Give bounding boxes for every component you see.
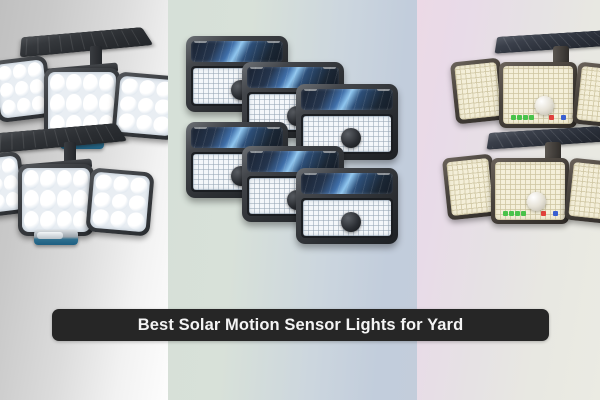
motion-sensor-icon xyxy=(34,230,78,245)
led-panel xyxy=(301,198,393,238)
led-lens xyxy=(495,162,565,220)
led-lens xyxy=(446,158,493,216)
solar-flood-light-warm xyxy=(445,122,600,240)
solar-wall-light xyxy=(296,168,398,244)
led-lens xyxy=(576,66,600,124)
light-head-center xyxy=(491,158,569,224)
solar-panel-icon xyxy=(191,41,283,62)
status-indicator-red xyxy=(549,115,554,120)
solar-panel-icon xyxy=(487,126,600,149)
battery-indicator xyxy=(503,211,526,216)
motion-sensor-icon xyxy=(535,96,554,115)
status-indicator-blue xyxy=(561,115,566,120)
status-indicator-blue xyxy=(553,211,558,216)
solar-panel-icon xyxy=(301,173,393,194)
led-lens xyxy=(90,172,151,233)
led-lens xyxy=(22,168,90,232)
solar-panel-icon xyxy=(301,89,393,110)
light-head-left xyxy=(450,58,506,125)
motion-sensor-icon xyxy=(527,192,546,211)
light-head-center xyxy=(18,164,94,236)
banner-title-text: Best Solar Motion Sensor Lights for Yard xyxy=(138,316,464,335)
light-head-center xyxy=(499,62,577,128)
motion-sensor-icon xyxy=(341,212,361,232)
title-banner: Best Solar Motion Sensor Lights for Yard xyxy=(52,309,549,341)
light-head-left xyxy=(442,154,498,221)
solar-panel-icon xyxy=(495,30,600,53)
led-lens xyxy=(568,162,600,220)
light-head-right xyxy=(564,158,600,225)
battery-indicator xyxy=(511,115,534,120)
led-lens xyxy=(0,59,49,118)
led-lens xyxy=(454,62,501,120)
solar-panel-icon xyxy=(20,27,154,57)
led-lens xyxy=(503,66,573,124)
motion-sensor-icon xyxy=(341,128,361,148)
light-head-right xyxy=(85,167,154,236)
solar-panel-icon xyxy=(191,127,283,148)
status-indicator-red xyxy=(541,211,546,216)
solar-flood-light-three-head xyxy=(0,120,154,250)
product-collage: Best Solar Motion Sensor Lights for Yard xyxy=(0,0,600,400)
